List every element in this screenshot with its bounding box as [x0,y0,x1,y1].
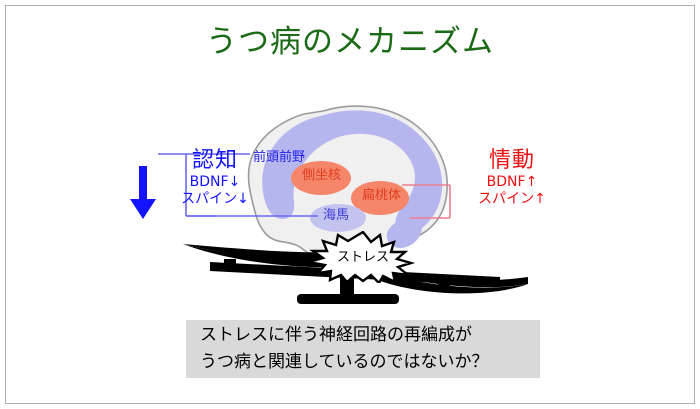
brain-label-hippocampus: 海馬 [323,208,349,223]
slide-canvas: うつ病のメカニズム 前頭前野 側坐核 扁桃体 海馬 [0,0,700,409]
emotion-bdnf: BDNF↑ [452,174,572,191]
emotion-bracket [402,185,450,218]
emotion-panel: 情動 BDNF↑ スパイン↑ [452,148,572,208]
caption-box: ストレスに伴う神経回路の再編成が うつ病と関連しているのではないか？ [186,320,540,378]
brain-label-amygdala: 扁桃体 [362,188,401,203]
stress-label: ストレス [305,246,421,265]
cognition-bdnf: BDNF↓ [160,174,270,191]
brain-label-nucleus-accumbens: 側坐核 [302,168,341,183]
emotion-spine: スパイン↑ [452,191,572,208]
caption-line-2: うつ病と関連しているのではないか？ [200,349,540,376]
caption-line-1: ストレスに伴う神経回路の再編成が [200,322,540,349]
cognition-panel: 認知 BDNF↓ スパイン↓ [160,148,270,208]
emotion-heading: 情動 [452,148,572,174]
down-arrow-icon [128,166,158,221]
page-title: うつ病のメカニズム [0,16,700,61]
cognition-heading: 認知 [160,148,270,174]
cognition-spine: スパイン↓ [160,191,270,208]
